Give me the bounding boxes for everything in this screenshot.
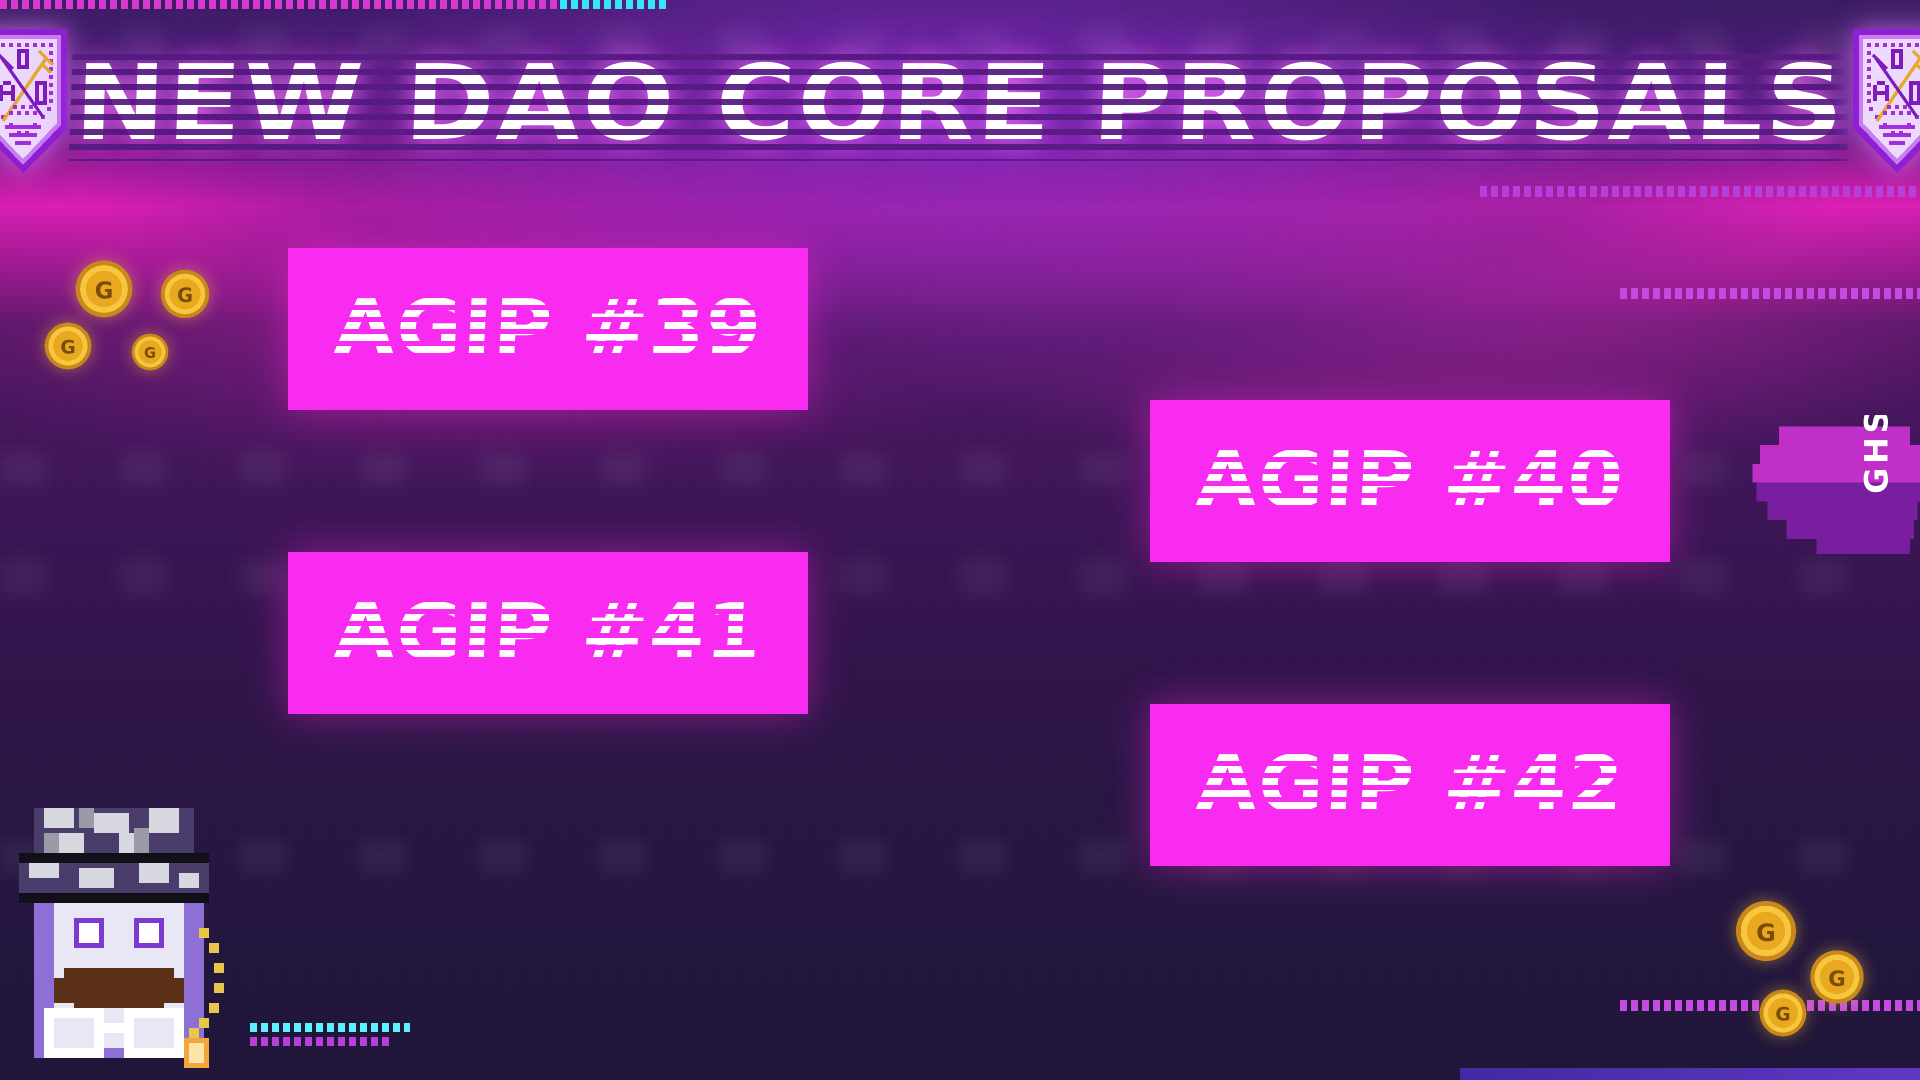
header: NEW DAO CORE PROPOSALS bbox=[0, 0, 1920, 205]
svg-text:G: G bbox=[1828, 967, 1846, 992]
proposal-row[interactable]: AGIP #41 Update GLTR Emissions: Increase… bbox=[0, 552, 1920, 652]
proposal-tag-badge[interactable]: AGIP #42 bbox=[1150, 704, 1670, 866]
ghst-coin-icon: G bbox=[1805, 945, 1869, 1009]
ghst-token-label: GHST bbox=[1858, 415, 1896, 494]
svg-text:G: G bbox=[144, 345, 156, 362]
proposal-description-panel[interactable]: Update GLTR Emissions: IncreaseGHST-USDC… bbox=[800, 582, 1870, 714]
glitch-bar-bottom-right bbox=[1460, 1068, 1920, 1080]
ghst-coin-icon: G bbox=[40, 318, 96, 374]
proposal-tag-badge[interactable]: AGIP #41 bbox=[288, 552, 808, 714]
proposal-description-text: Update GLTR Emissions: IncreaseGHST-USDC… bbox=[800, 607, 1870, 689]
proposal-description-text: Modifying the Channeling Window bbox=[800, 323, 1870, 364]
svg-text:G: G bbox=[95, 278, 114, 304]
pixel-strip-bottom-left bbox=[250, 1023, 410, 1032]
proposal-row[interactable]: AGIP #39 Modifying the Channeling Window bbox=[0, 248, 1920, 348]
proposal-row[interactable]: AGIP #42 Setting limits on the number of… bbox=[0, 704, 1920, 804]
ghst-coin-icon: G bbox=[156, 265, 214, 323]
ghst-coin-icon: G bbox=[1730, 895, 1802, 967]
proposal-row[interactable]: AGIP #40 Sunsetting FRENS Immediately bbox=[0, 400, 1920, 500]
dao-shield-badge-right bbox=[1845, 25, 1920, 181]
ghst-token-tile: GHST bbox=[1740, 415, 1920, 565]
proposal-list: AGIP #39 Modifying the Channeling Window… bbox=[0, 248, 1920, 856]
ghst-coin-icon: G bbox=[70, 255, 138, 323]
pixel-strip-bottom-left-2 bbox=[250, 1037, 390, 1046]
svg-text:G: G bbox=[177, 284, 193, 307]
proposal-tag-label: AGIP #39 bbox=[332, 290, 764, 368]
svg-text:G: G bbox=[60, 338, 75, 359]
proposal-tag-badge[interactable]: AGIP #39 bbox=[288, 248, 808, 410]
aavegotchi-character bbox=[0, 778, 244, 1080]
proposal-tag-badge[interactable]: AGIP #40 bbox=[1150, 400, 1670, 562]
proposal-description-panel[interactable]: Modifying the Channeling Window bbox=[800, 278, 1870, 410]
dao-shield-badge-left bbox=[0, 25, 75, 181]
ghst-coin-icon: G bbox=[128, 330, 172, 374]
proposal-tag-label: AGIP #40 bbox=[1194, 442, 1626, 520]
svg-text:G: G bbox=[1775, 1005, 1790, 1026]
page-title: NEW DAO CORE PROPOSALS bbox=[73, 51, 1847, 155]
ghst-coin-icon: G bbox=[1755, 985, 1811, 1041]
svg-text:G: G bbox=[1756, 919, 1776, 947]
proposal-tag-label: AGIP #42 bbox=[1194, 746, 1626, 824]
proposal-tag-label: AGIP #41 bbox=[332, 594, 764, 672]
